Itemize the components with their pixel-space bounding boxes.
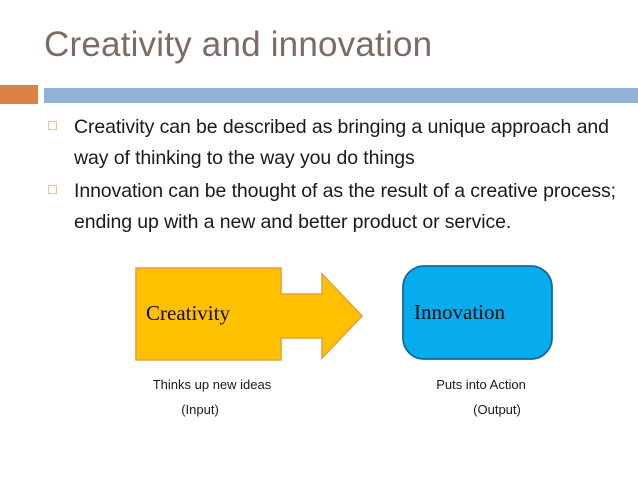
list-item: Creativity can be described as bringing …	[46, 112, 626, 174]
slide-canvas: Creativity and innovation Creativity can…	[0, 0, 638, 479]
caption-output-sub: (Output)	[397, 402, 597, 417]
square-bullet-icon	[48, 185, 57, 194]
list-item: Innovation can be thought of as the resu…	[46, 176, 626, 238]
caption-input-main: Thinks up new ideas	[112, 377, 312, 392]
caption-output-main: Puts into Action	[381, 377, 581, 392]
bullet-text: Innovation can be thought of as the resu…	[74, 180, 616, 233]
title-accent-block-orange	[0, 85, 38, 104]
caption-input-sub: (Input)	[100, 402, 300, 417]
bullet-text: Creativity can be described as bringing …	[74, 116, 609, 169]
bullet-list: Creativity can be described as bringing …	[46, 112, 626, 240]
innovation-shape-label: Innovation	[414, 300, 505, 325]
page-title: Creativity and innovation	[44, 24, 432, 66]
square-bullet-icon	[48, 121, 57, 130]
title-accent-bar-blue	[44, 88, 638, 103]
creativity-shape-label: Creativity	[146, 301, 230, 326]
